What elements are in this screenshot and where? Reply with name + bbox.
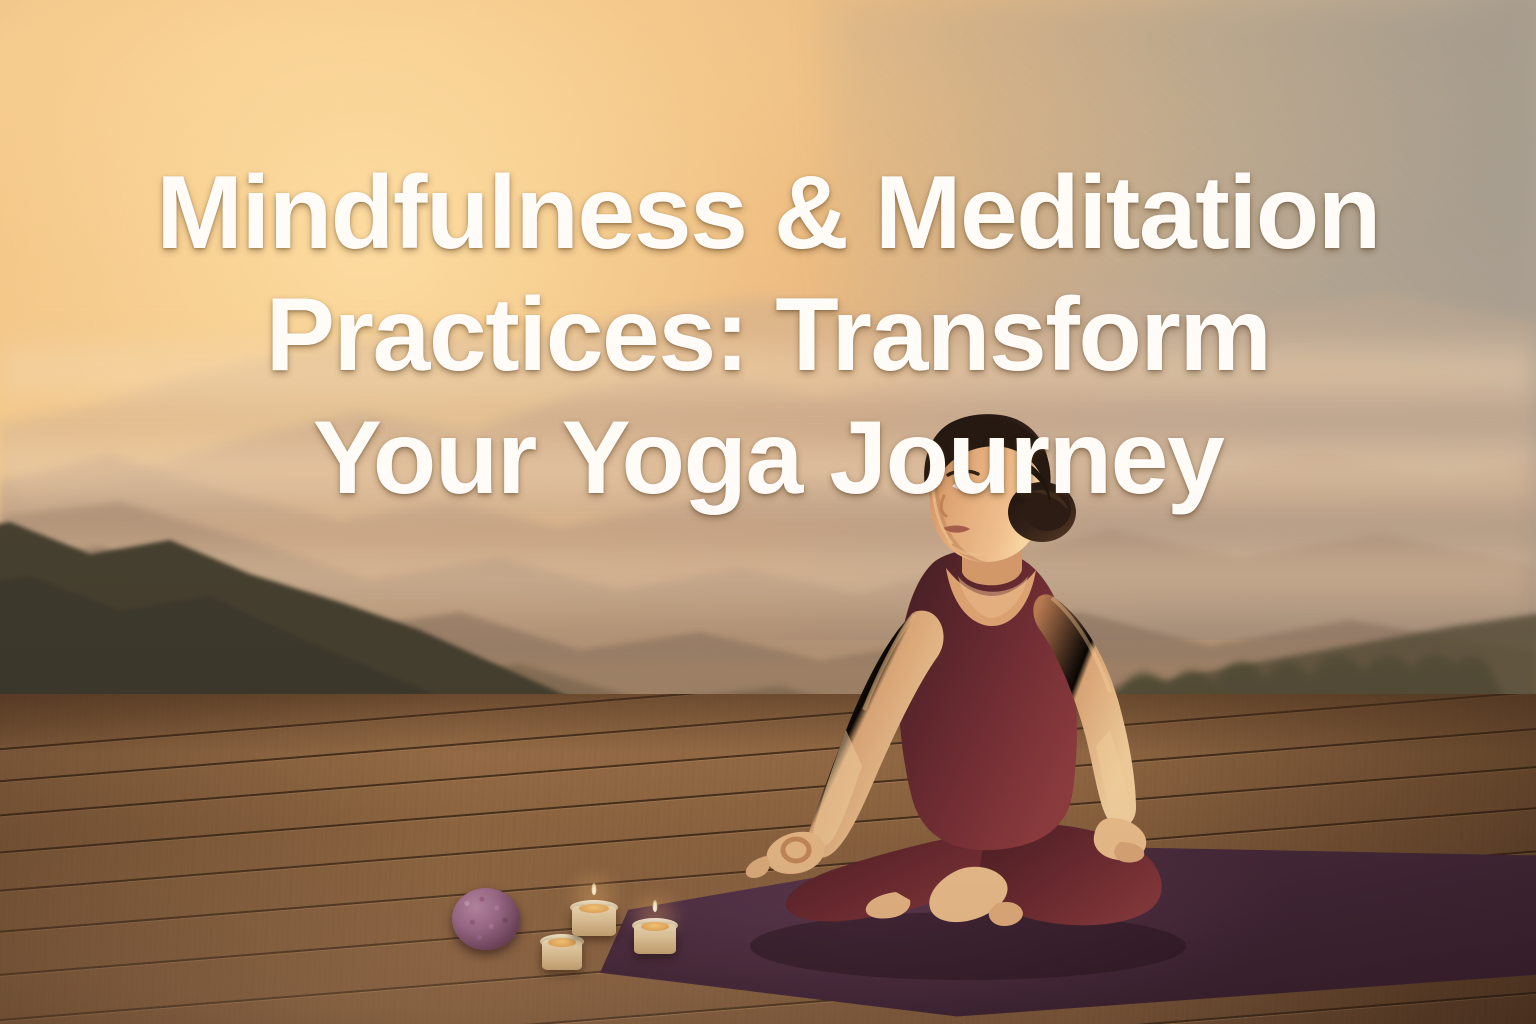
candle-right — [634, 910, 676, 966]
title-line-2: Practices: Transform — [54, 274, 1482, 397]
title-line-3: Your Yoga Journey — [54, 397, 1482, 520]
deck-props — [430, 880, 730, 1010]
candle-wax — [641, 922, 670, 931]
page-title: Mindfulness & Meditation Practices: Tran… — [0, 152, 1536, 520]
yarn-ball-texture — [452, 888, 520, 950]
candle-center — [572, 892, 616, 950]
title-line-1: Mindfulness & Meditation — [54, 152, 1482, 275]
candle-wax — [579, 904, 609, 913]
candle-flame-core — [653, 900, 658, 912]
candle-flame-core — [592, 883, 597, 895]
yarn-ball — [452, 888, 520, 950]
hero-banner: Mindfulness & Meditation Practices: Tran… — [0, 0, 1536, 1024]
